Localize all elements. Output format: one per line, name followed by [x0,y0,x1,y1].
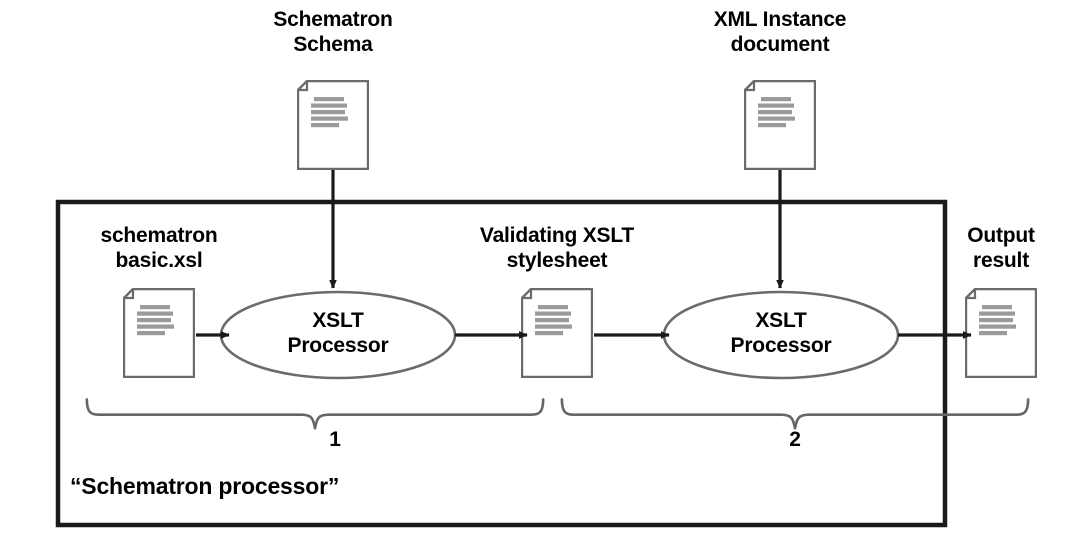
label-validating-xslt-stylesheet: Validating XSLT stylesheet [457,224,657,274]
label-xslt-processor-2: XSLT Processor [701,309,861,359]
diagram-canvas: Schematron Schema XML Instance document … [0,0,1080,560]
label-output-result: Output result [943,224,1059,274]
brace-stage-1 [87,399,543,428]
label-schematron-schema: Schematron Schema [233,8,433,58]
label-xml-instance-document: XML Instance document [680,8,880,58]
document-icon-validating-xslt-stylesheet [522,289,592,377]
brace-stage-2 [562,399,1028,428]
document-icon-schematron-schema [298,81,368,169]
brace-label-2: 2 [755,428,835,453]
document-icon-output-result [966,289,1036,377]
brace-label-1: 1 [295,428,375,453]
label-xslt-processor-1: XSLT Processor [258,309,418,359]
label-schematron-basic-xsl: schematron basic.xsl [79,224,239,274]
document-icon-xml-instance [745,81,815,169]
box-caption-schematron-processor: “Schematron processor” [70,473,590,500]
document-icon-schematron-basic-xsl [124,289,194,377]
